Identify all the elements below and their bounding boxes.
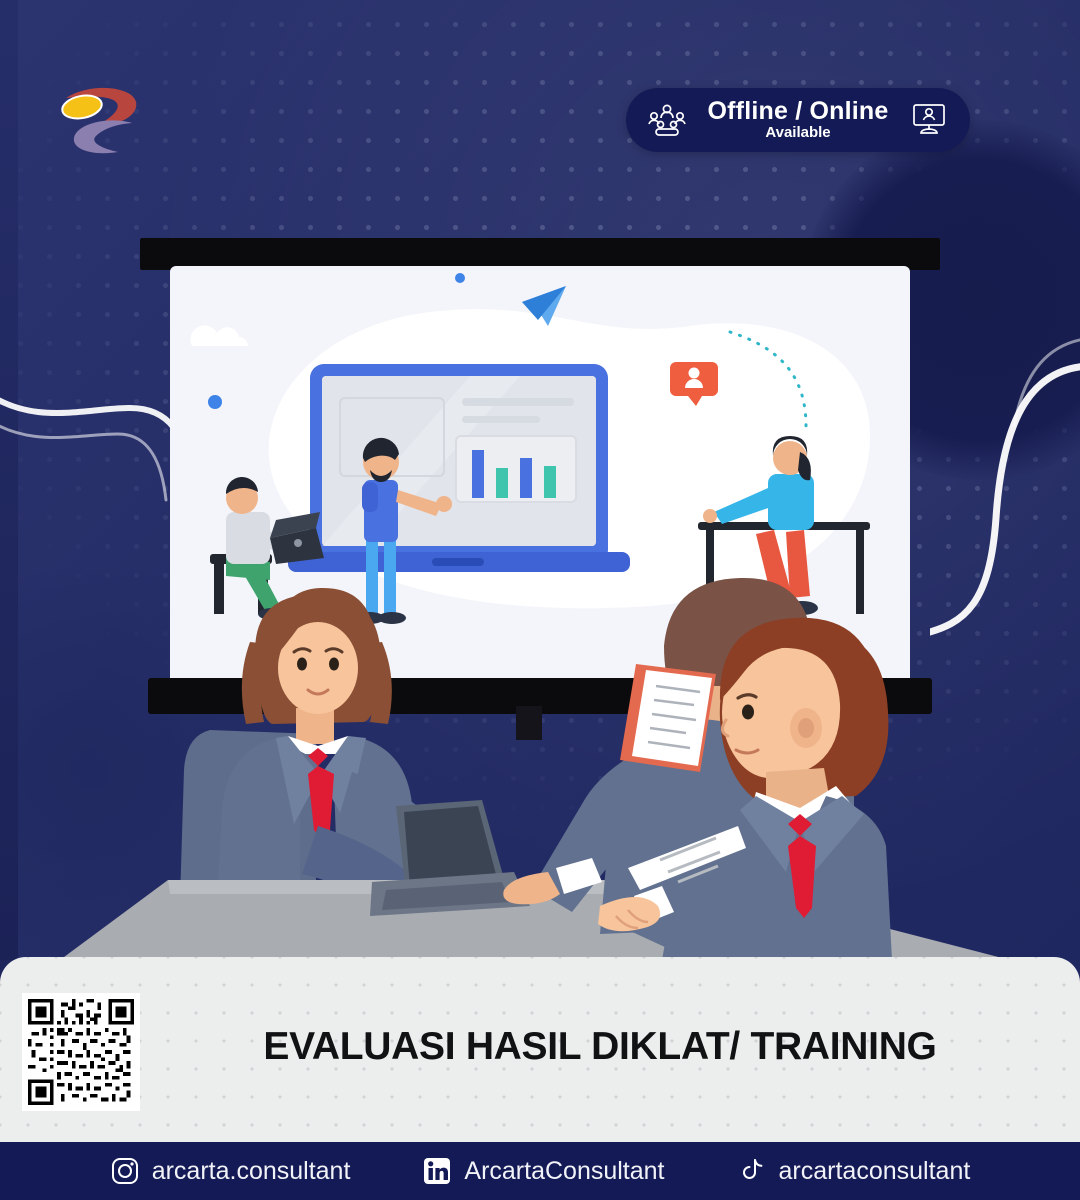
instagram-handle: arcarta.consultant	[152, 1157, 351, 1186]
linkedin-icon	[422, 1156, 452, 1186]
meeting-group-icon	[646, 99, 688, 141]
qr-code[interactable]	[22, 993, 140, 1111]
badge-subtitle: Available	[765, 124, 830, 141]
social-item-linkedin[interactable]: ArcartaConsultant	[422, 1156, 664, 1186]
linkedin-handle: ArcartaConsultant	[464, 1157, 664, 1186]
meeting-table-scene	[0, 560, 1080, 960]
poster-canvas: Offline / Online Available	[0, 0, 1080, 1200]
instagram-icon	[110, 1156, 140, 1186]
badge-title: Offline / Online	[708, 97, 889, 125]
social-item-tiktok[interactable]: arcartaconsultant	[737, 1156, 971, 1186]
social-item-instagram[interactable]: arcarta.consultant	[110, 1156, 351, 1186]
video-conference-icon	[908, 99, 950, 141]
tiktok-handle: arcartaconsultant	[779, 1157, 971, 1186]
availability-badge[interactable]: Offline / Online Available	[626, 88, 970, 152]
page-title: EVALUASI HASIL DIKLAT/ TRAINING	[160, 1016, 1040, 1078]
badge-text-group: Offline / Online Available	[688, 99, 908, 141]
tiktok-icon	[737, 1156, 767, 1186]
arcarta-logo	[46, 76, 150, 160]
social-media-bar: arcarta.consultant ArcartaConsultant	[0, 1142, 1080, 1200]
